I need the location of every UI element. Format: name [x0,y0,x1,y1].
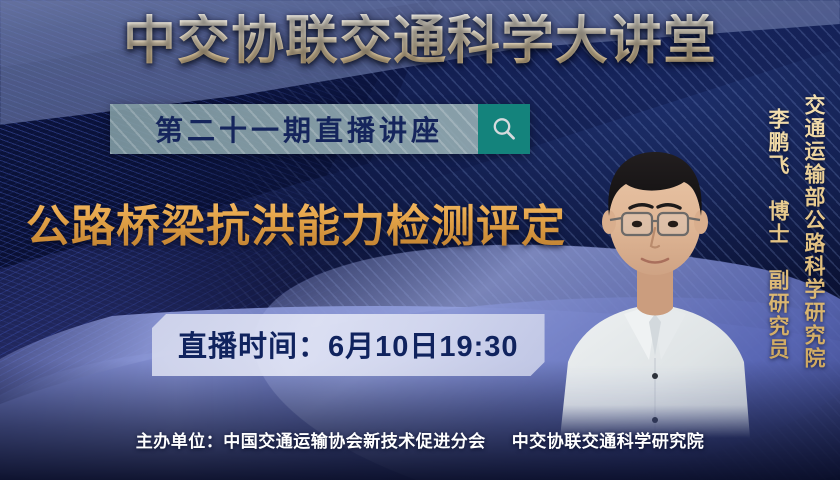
presenter-photo [552,108,758,438]
episode-label: 第二十一期直播讲座 [110,104,478,154]
footer-org-secondary: 中交协联交通科学研究院 [512,432,705,451]
presenter-organization: 交通运输部公路科学研究院 [798,94,828,370]
footer-org-primary: 中国交通运输协会新技术促进分会 [223,432,486,451]
poster-canvas: 中交协联交通科学大讲堂 第二十一期直播讲座 公路桥梁抗洪能力检测评定 直播时间：… [0,0,840,480]
presenter-name-title: 李鹏飞 博士 副研究员 [762,108,792,361]
page-title: 中交协联交通科学大讲堂 [0,14,840,67]
episode-banner: 第二十一期直播讲座 [110,104,530,154]
footer-organizers: 主办单位：中国交通运输协会新技术促进分会中交协联交通科学研究院 [0,427,840,452]
live-time-badge: 直播时间：6月10日19:30 [152,314,545,376]
search-icon [489,114,519,144]
footer-label: 主办单位： [136,432,224,451]
search-button[interactable] [478,104,530,154]
lecture-title: 公路桥梁抗洪能力检测评定 [26,203,566,251]
